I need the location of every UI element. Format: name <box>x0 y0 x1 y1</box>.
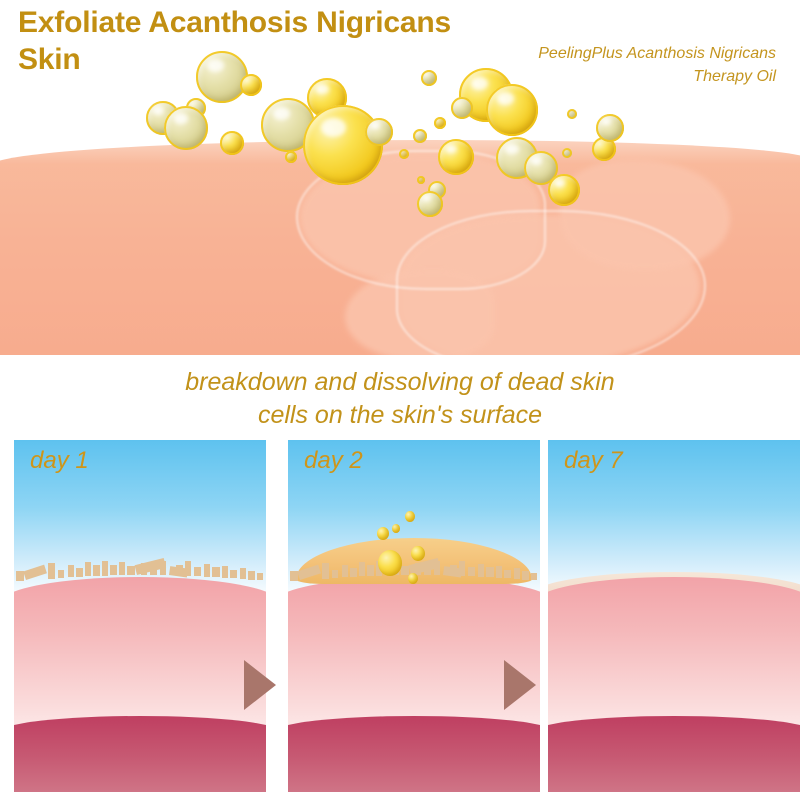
skin-flake <box>23 565 47 580</box>
skin-flake <box>58 570 64 578</box>
skin-flake <box>450 565 457 576</box>
skin-flake <box>496 566 502 578</box>
progress-arrow-icon <box>244 660 276 710</box>
oil-bubble <box>562 148 572 158</box>
skin-flake <box>468 567 475 576</box>
caption-line-2: cells on the skin's surface <box>0 399 800 432</box>
day-label: day 1 <box>30 448 89 474</box>
skin-flake <box>401 566 409 575</box>
skin-flake <box>212 567 220 577</box>
oil-bubble <box>417 176 425 184</box>
panel-day-7: day 7 <box>548 440 800 792</box>
oil-bubble <box>220 131 244 155</box>
panel-day-1: day 1 <box>14 440 266 792</box>
progress-arrow-icon <box>504 660 536 710</box>
skin-flake <box>127 566 135 575</box>
oil-bubble <box>548 174 580 206</box>
skin-flake <box>176 565 183 576</box>
skin-flake <box>240 568 246 579</box>
caption-line-1: breakdown and dissolving of dead skin <box>0 366 800 399</box>
skin-flake <box>342 565 348 577</box>
oil-bubble <box>434 117 446 129</box>
skin-flake <box>102 561 108 576</box>
skin-flake <box>248 571 255 580</box>
oil-bubble <box>399 149 409 159</box>
skin-flake <box>141 563 147 575</box>
skin-flake <box>359 562 365 576</box>
day-label: day 2 <box>304 448 363 474</box>
deep-tissue-layer <box>288 716 540 792</box>
deep-tissue-layer <box>14 716 266 792</box>
skin-flake <box>350 568 357 577</box>
skin-flake <box>297 565 321 580</box>
dead-skin-flakes <box>14 547 266 581</box>
skin-flake <box>332 570 338 578</box>
oil-bubble <box>596 114 624 142</box>
skin-flake <box>150 567 157 575</box>
skin-flake <box>185 561 191 576</box>
skin-flake <box>504 570 511 578</box>
oil-droplet <box>408 573 418 584</box>
skin-flake <box>230 570 237 578</box>
skin-flake <box>424 567 431 575</box>
skin-flake <box>367 565 374 576</box>
skin-flake <box>222 566 228 578</box>
oil-bubble <box>365 118 393 146</box>
skin-flake <box>93 565 100 576</box>
oil-bubble <box>413 129 427 143</box>
skin-flake <box>110 565 117 575</box>
skin-flake <box>434 561 440 575</box>
skin-blotch-outline <box>396 210 706 355</box>
skin-flake <box>514 568 520 579</box>
timeline-panels: day 1 day 2 day 7 <box>0 440 800 792</box>
skin-flake <box>119 562 125 575</box>
skin-flake <box>257 573 263 580</box>
skin-flake <box>48 563 55 579</box>
page-title: Exfoliate Acanthosis Nigricans Skin <box>18 5 498 78</box>
oil-bubble <box>303 105 383 185</box>
oil-bubble <box>285 151 297 163</box>
caption-text: breakdown and dissolving of dead skin ce… <box>0 366 800 431</box>
skin-flake <box>322 563 329 579</box>
skin-flake <box>160 561 166 575</box>
infographic-page: Exfoliate Acanthosis Nigricans Skin Peel… <box>0 0 800 800</box>
product-name-label: PeelingPlus Acanthosis Nigricans Therapy… <box>476 42 776 88</box>
skin-flake <box>68 565 74 577</box>
skin-flake <box>478 564 484 577</box>
oil-bubble <box>486 84 538 136</box>
oil-droplet <box>392 524 400 533</box>
skin-flake <box>522 571 529 580</box>
skin-flake <box>76 568 83 577</box>
day-label: day 7 <box>564 448 623 474</box>
skin-flake <box>459 561 465 576</box>
skin-flake <box>486 567 494 577</box>
oil-droplet <box>405 511 415 522</box>
skin-flake <box>531 573 537 580</box>
skin-flake <box>204 564 210 577</box>
deep-tissue-layer <box>548 716 800 792</box>
skin-flake <box>85 562 91 576</box>
oil-bubble <box>417 191 443 217</box>
oil-bubble <box>567 109 577 119</box>
oil-bubble <box>451 97 473 119</box>
panel-day-2: day 2 <box>288 440 540 792</box>
hero-section: Exfoliate Acanthosis Nigricans Skin Peel… <box>0 0 800 355</box>
oil-bubble <box>438 139 474 175</box>
skin-flake <box>194 567 201 576</box>
oil-bubble <box>164 106 208 150</box>
